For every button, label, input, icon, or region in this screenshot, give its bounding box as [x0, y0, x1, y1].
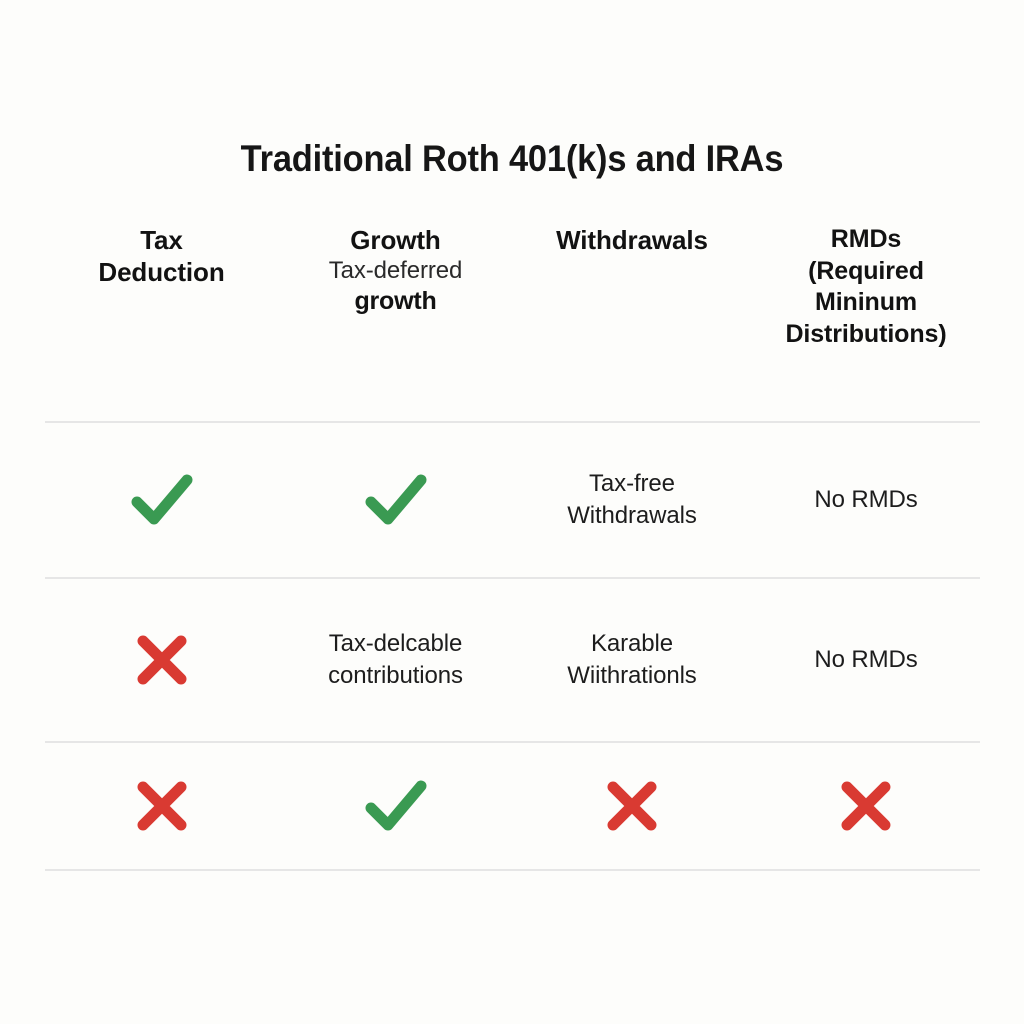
- cell-text-line: contributions: [328, 662, 463, 689]
- cell-text-line: Wiithrationls: [567, 662, 696, 689]
- cross-icon: [838, 778, 894, 834]
- cross-icon: [134, 778, 190, 834]
- table-row: [44, 743, 980, 869]
- check-icon: [131, 472, 193, 528]
- column-header-rmds: RMDs (Required Mininum Distributions): [752, 224, 980, 350]
- table-cell: [279, 743, 512, 869]
- page-title: Traditional Roth 401(k)s and IRAs: [36, 138, 988, 181]
- check-icon: [365, 778, 427, 834]
- table-cell: Tax-free Withdrawals: [512, 423, 752, 577]
- cell-text-line: Tax-delcable: [329, 630, 463, 657]
- cell-text: No RMDs: [814, 484, 917, 516]
- cell-text: No RMDs: [814, 644, 917, 676]
- table-cell: [512, 743, 752, 869]
- column-header-line: Mininum: [756, 287, 976, 319]
- cell-text-line: No RMDs: [814, 646, 917, 673]
- cell-text-line: Tax-free: [589, 470, 675, 497]
- table-cell: No RMDs: [752, 423, 980, 577]
- cell-text: Karable Wiithrationls: [567, 628, 696, 691]
- table-row: Tax-delcable contributions Karable Wiith…: [44, 579, 980, 741]
- column-header-line: Tax-deferred: [283, 256, 508, 286]
- column-header-growth: Growth Tax-deferred growth: [279, 224, 512, 317]
- cell-text-line: No RMDs: [814, 486, 917, 513]
- column-header-line: Tax: [48, 224, 275, 256]
- table-cell: Karable Wiithrationls: [512, 579, 752, 741]
- column-header-tax-deduction: Tax Deduction: [44, 224, 279, 288]
- cell-text: Tax-free Withdrawals: [567, 468, 697, 531]
- cell-text: Tax-delcable contributions: [328, 628, 463, 691]
- cross-icon: [134, 632, 190, 688]
- column-header-withdrawals: Withdrawals: [512, 224, 752, 256]
- table-cell: [44, 423, 279, 577]
- column-header-line: Deduction: [48, 256, 275, 288]
- column-header-line: growth: [283, 286, 508, 317]
- cell-text-line: Karable: [591, 630, 673, 657]
- table-cell: [44, 743, 279, 869]
- column-header-line: Growth: [283, 224, 508, 256]
- column-header-line: RMDs: [756, 224, 976, 256]
- column-header-line: Withdrawals: [516, 224, 748, 256]
- cross-icon: [604, 778, 660, 834]
- cell-text-line: Withdrawals: [567, 502, 697, 529]
- column-header-line: Distributions): [756, 319, 976, 351]
- table-cell: Tax-delcable contributions: [279, 579, 512, 741]
- table-cell: [279, 423, 512, 577]
- row-divider: [45, 869, 980, 871]
- comparison-table-infographic: Traditional Roth 401(k)s and IRAs Tax De…: [0, 0, 1024, 1024]
- column-header-line: (Required: [756, 256, 976, 288]
- table-cell: [44, 579, 279, 741]
- table-cell: No RMDs: [752, 579, 980, 741]
- table-header-row: Tax Deduction Growth Tax-deferred growth…: [44, 224, 980, 384]
- table-cell: [752, 743, 980, 869]
- table-row: Tax-free Withdrawals No RMDs: [44, 423, 980, 577]
- check-icon: [365, 472, 427, 528]
